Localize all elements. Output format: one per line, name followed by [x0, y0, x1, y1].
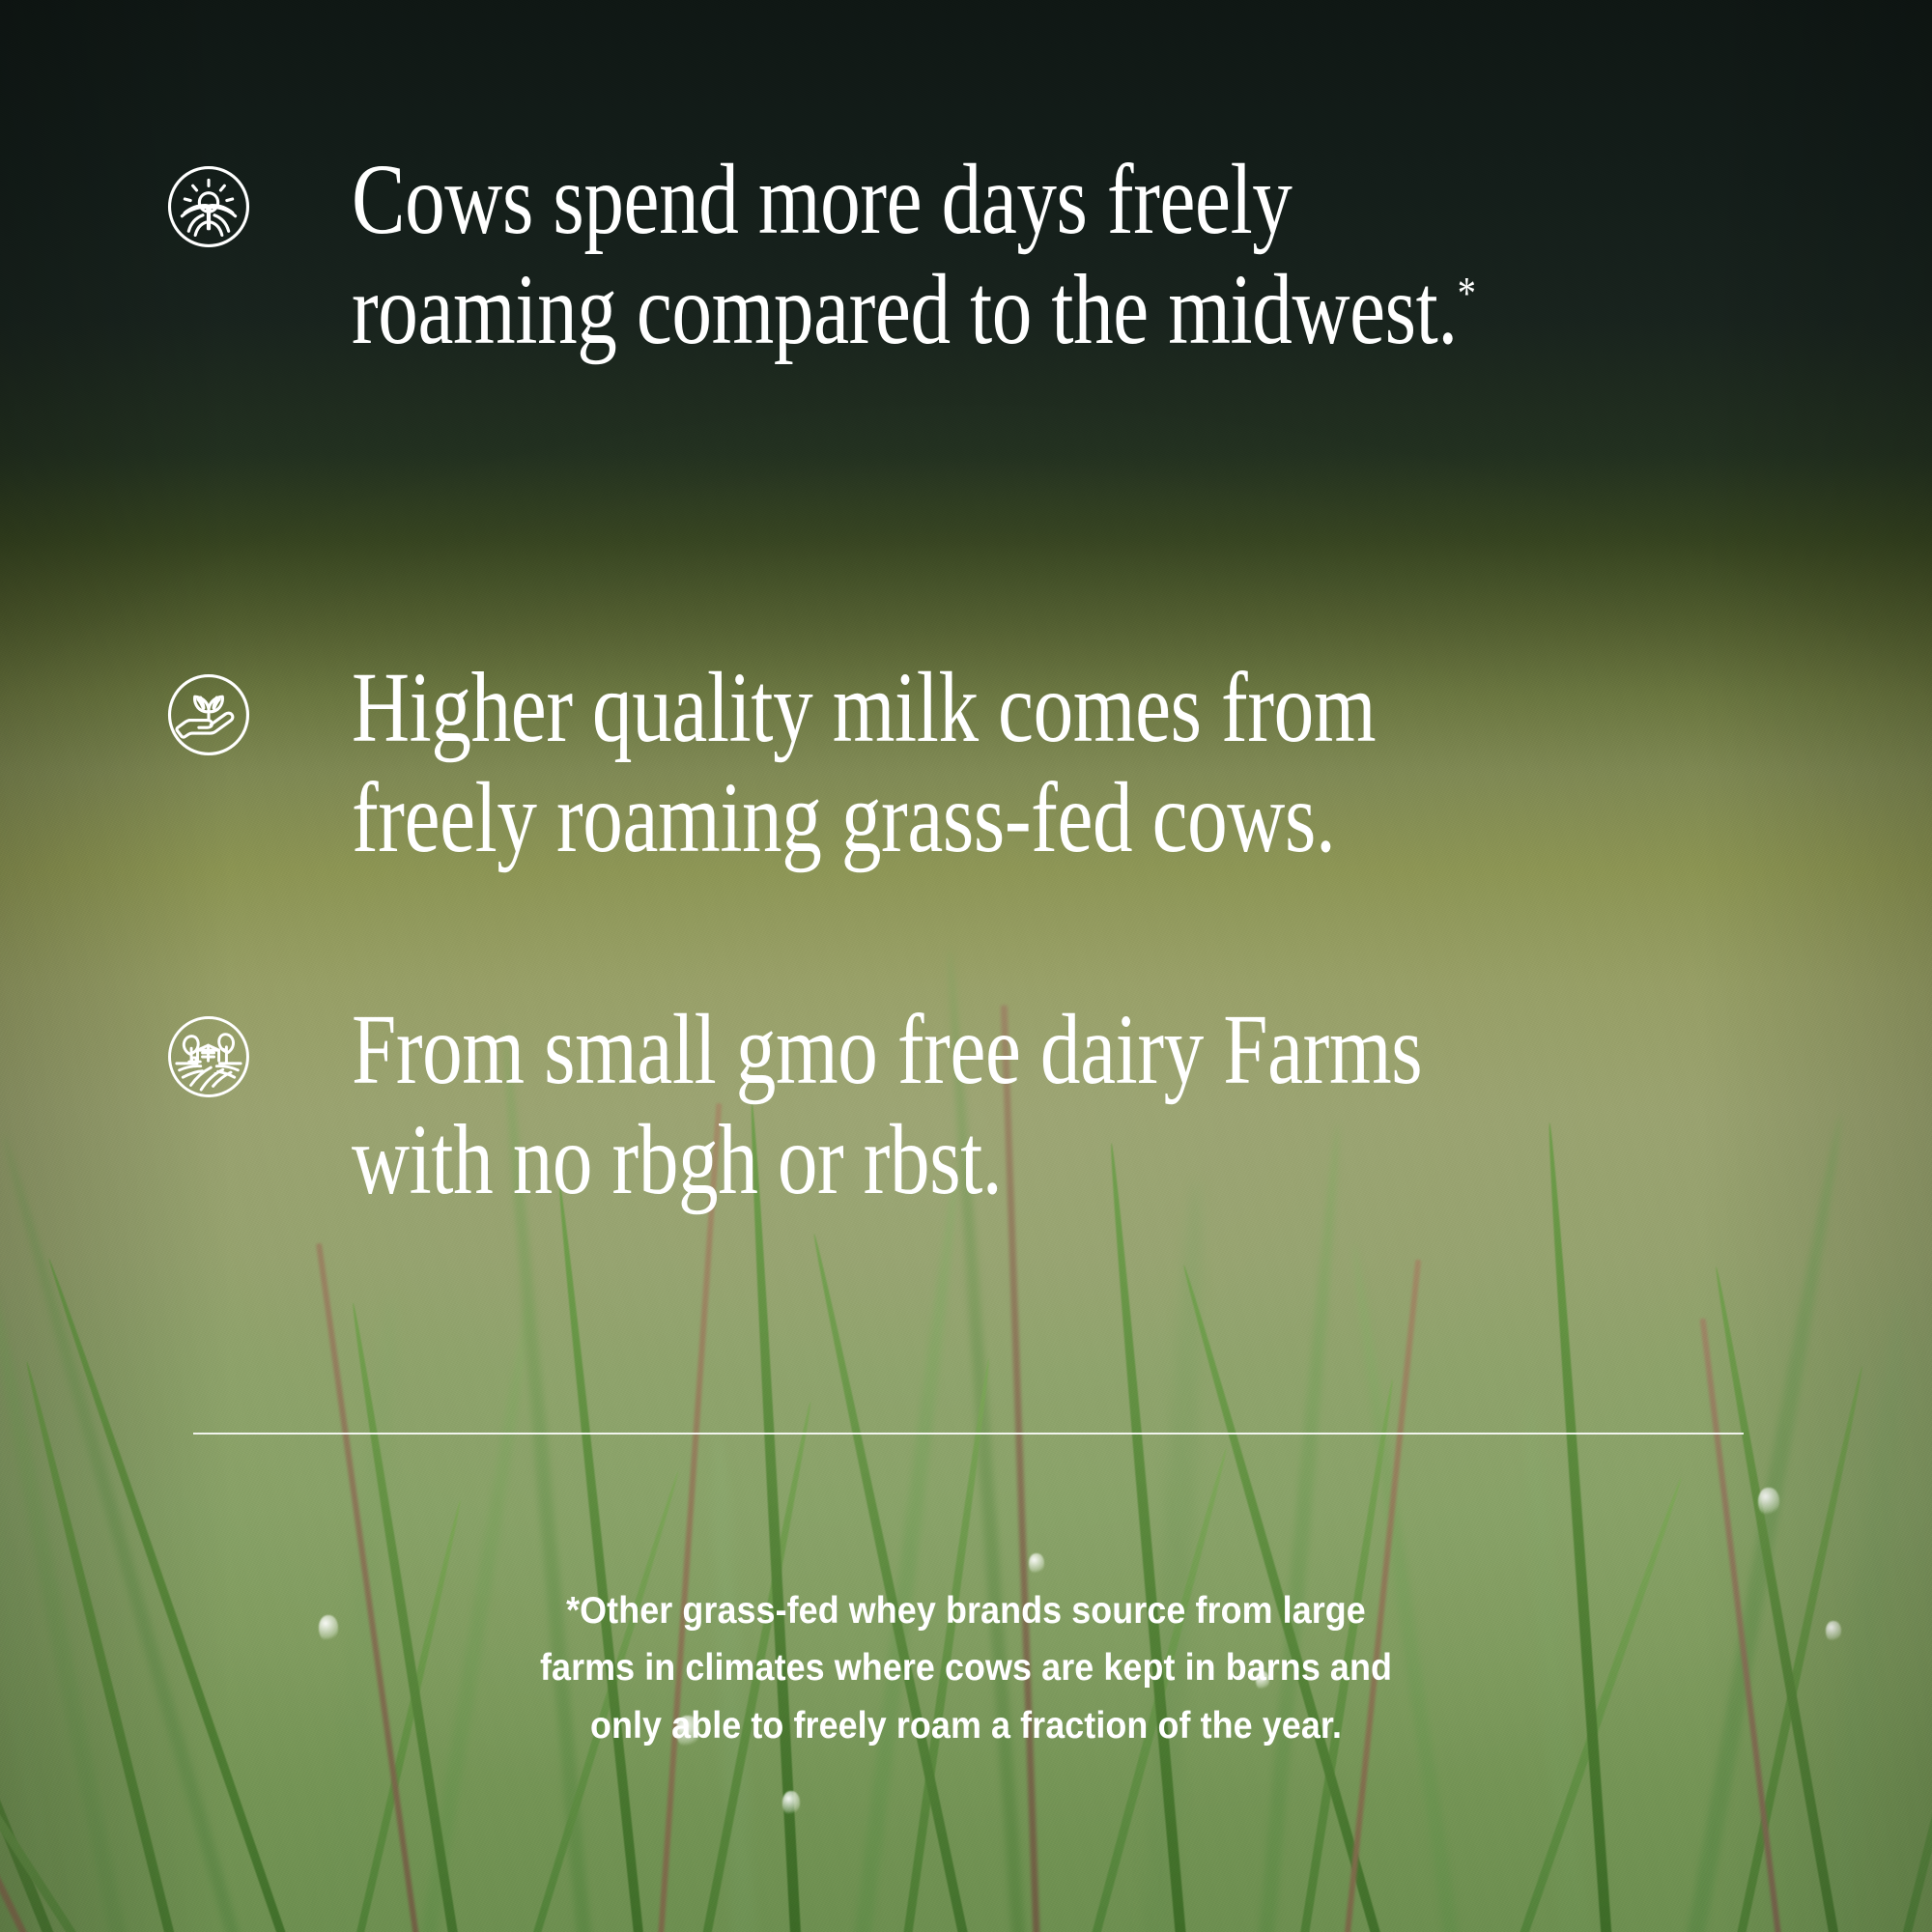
benefit-text-1: Cows spend more days freely roaming comp…	[352, 145, 1500, 366]
benefit-1-period: .	[1437, 254, 1457, 365]
footnote-text: *Other grass-fed whey brands source from…	[344, 1582, 1588, 1754]
footnote-line-1: *Other grass-fed whey brands source from…	[344, 1582, 1588, 1639]
content-layer: Cows spend more days freely roaming comp…	[0, 0, 1932, 1932]
farm-barn-fields-icon	[164, 1012, 253, 1101]
sunrise-over-fields-icon	[164, 162, 253, 251]
section-divider	[193, 1433, 1744, 1435]
benefit-item-3: From small gmo free dairy Farms with no …	[164, 995, 1787, 1216]
benefit-item-1: Cows spend more days freely roaming comp…	[164, 145, 1787, 366]
footnote-marker: *	[1458, 269, 1476, 320]
footnote-line-3: only able to freely roam a fraction of t…	[344, 1697, 1588, 1754]
benefit-item-2: Higher quality milk comes from freely ro…	[164, 653, 1787, 874]
footnote-line-2: farms in climates where cows are kept in…	[344, 1639, 1588, 1696]
promo-graphic: Cows spend more days freely roaming comp…	[0, 0, 1932, 1932]
benefit-1-main: Cows spend more days freely roaming comp…	[352, 144, 1437, 365]
hand-holding-plant-icon	[164, 670, 253, 759]
benefit-text-2: Higher quality milk comes from freely ro…	[352, 653, 1500, 874]
benefit-text-3: From small gmo free dairy Farms with no …	[352, 995, 1500, 1216]
